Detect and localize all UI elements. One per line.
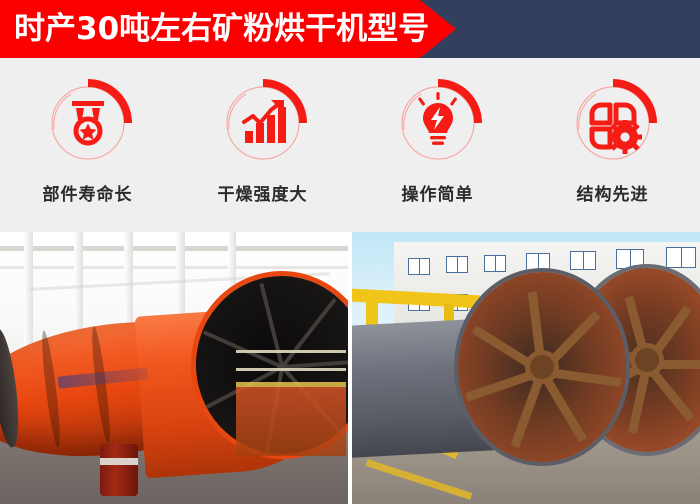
roof-beam	[0, 246, 348, 251]
drum-opening-front	[458, 272, 626, 462]
drum-spoke	[281, 298, 337, 368]
feature-label-1: 部件寿命长	[43, 180, 133, 205]
feature-item-4[interactable]: 结构先进	[525, 58, 700, 232]
photo-rotary-dryer-gray-outdoor[interactable]: Φ3.0x20 筒体容积: 141.3m³ 生产能力: 30.1-37.7t/h…	[352, 232, 700, 504]
building-window	[484, 255, 506, 272]
building-window	[446, 256, 468, 273]
building-window	[408, 258, 430, 275]
scaffold-rail	[236, 368, 346, 371]
building-window	[526, 253, 550, 271]
building-window	[666, 247, 696, 268]
feature-label-3: 操作简单	[402, 180, 474, 205]
medal-icon	[43, 77, 133, 167]
page-title: 时产30吨左右矿粉烘干机型号	[14, 0, 429, 58]
page-header: 时产30吨左右矿粉烘干机型号	[0, 0, 700, 58]
scissor-lift	[236, 382, 346, 456]
header-ribbon: 时产30吨左右矿粉烘干机型号	[0, 0, 456, 58]
feature-item-1[interactable]: 部件寿命长	[0, 58, 175, 232]
feature-item-2[interactable]: 干燥强度大	[175, 58, 350, 232]
roof-beam	[0, 266, 348, 269]
promo-page: 时产30吨左右矿粉烘干机型号 部件寿命长	[0, 0, 700, 504]
drum-spoke	[259, 283, 284, 367]
scaffold-rail	[236, 350, 346, 353]
drum-hub	[630, 343, 664, 377]
photo-gallery: Φ2.6x24 筒体容积: 127.4m³ 生产能力: 27.2-34.0t/h…	[0, 232, 700, 504]
feature-label-2: 干燥强度大	[218, 180, 308, 205]
feature-label-4: 结构先进	[577, 180, 649, 205]
lightbulb-bolt-icon	[393, 77, 483, 167]
drum-hub	[525, 350, 559, 384]
feature-list: 部件寿命长 干燥强度大	[0, 58, 700, 232]
building-window	[616, 249, 644, 269]
photo-rotary-dryer-orange-indoor[interactable]: Φ2.6x24 筒体容积: 127.4m³ 生产能力: 27.2-34.0t/h…	[0, 232, 348, 504]
building-window	[570, 251, 596, 270]
bar-chart-up-icon	[218, 77, 308, 167]
feature-item-3[interactable]: 操作简单	[350, 58, 525, 232]
gear-petals-icon	[568, 77, 658, 167]
oil-barrel	[100, 444, 138, 496]
